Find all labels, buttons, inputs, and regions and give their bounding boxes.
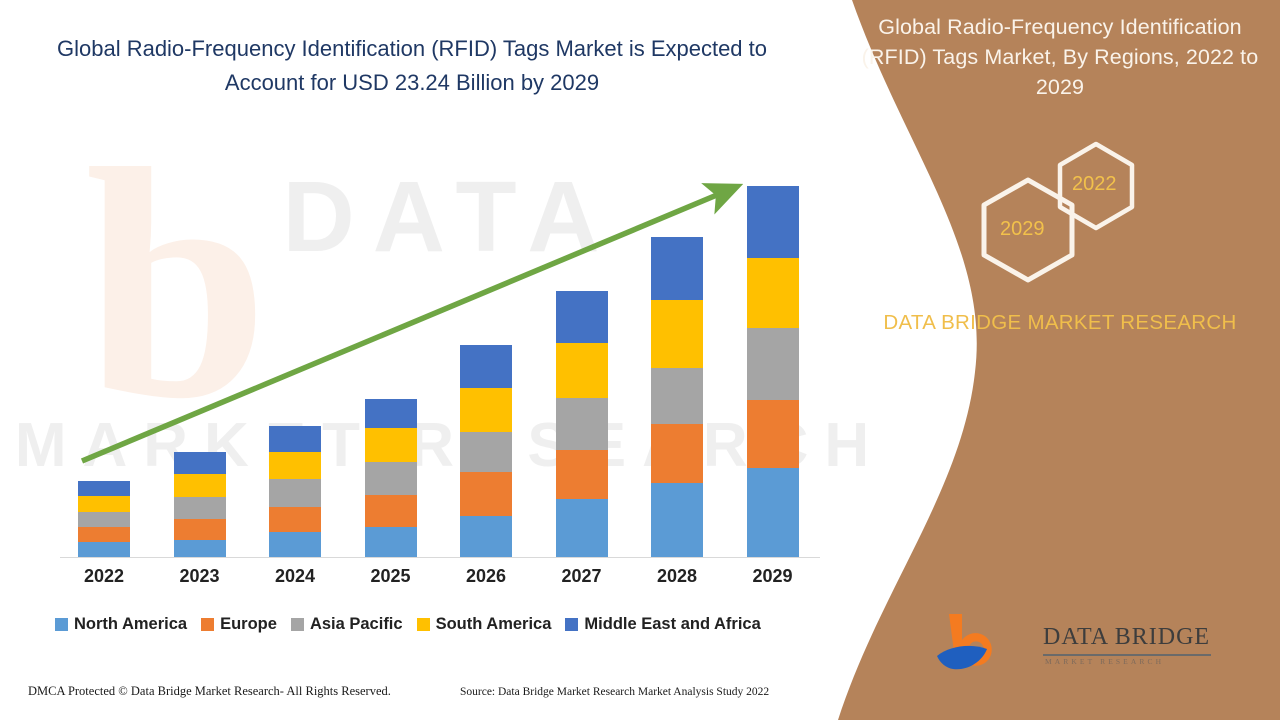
chart-title: Global Radio-Frequency Identification (R…	[52, 32, 772, 100]
logo-subtitle: MARKET RESEARCH	[1045, 657, 1164, 666]
bar-segment	[365, 399, 417, 428]
bar-segment	[174, 474, 226, 497]
bar-2027	[556, 291, 608, 557]
x-axis-label-2029: 2029	[723, 566, 823, 587]
bar-segment	[747, 328, 799, 400]
bar-2025	[365, 399, 417, 557]
bar-segment	[651, 300, 703, 368]
bar-segment	[174, 519, 226, 540]
bar-segment	[556, 291, 608, 343]
bar-segment	[78, 512, 130, 527]
bar-segment	[78, 496, 130, 512]
legend-item[interactable]: Europe	[201, 615, 277, 634]
bar-segment	[460, 432, 512, 472]
infographic-root: b DATA MARKET RESEARCH Global Radio-Freq…	[0, 0, 1280, 720]
bar-segment	[556, 398, 608, 450]
bar-segment	[269, 507, 321, 532]
company-logo: DATA BRIDGE MARKET RESEARCH	[935, 612, 1265, 682]
x-axis-label-2026: 2026	[436, 566, 536, 587]
bar-segment	[556, 450, 608, 499]
bar-2024	[269, 426, 321, 557]
hexagon-2029-label: 2029	[1000, 218, 1045, 241]
bar-segment	[78, 527, 130, 542]
bar-segment	[174, 540, 226, 557]
legend-item[interactable]: Middle East and Africa	[565, 615, 760, 634]
legend-swatch-icon	[55, 618, 68, 631]
hexagon-2022-label: 2022	[1072, 173, 1117, 196]
bar-segment	[747, 400, 799, 468]
chart-legend: North AmericaEuropeAsia PacificSouth Ame…	[55, 615, 761, 634]
bar-segment	[460, 516, 512, 557]
bar-segment	[78, 542, 130, 557]
bar-segment	[269, 452, 321, 479]
legend-swatch-icon	[291, 618, 304, 631]
bar-segment	[747, 258, 799, 328]
bar-segment	[78, 481, 130, 496]
x-axis-labels: 20222023202420252026202720282029	[0, 566, 860, 596]
logo-wordmark: DATA BRIDGE	[1043, 624, 1210, 651]
x-axis-label-2027: 2027	[532, 566, 632, 587]
legend-label: Asia Pacific	[310, 615, 403, 634]
x-axis-label-2023: 2023	[150, 566, 250, 587]
bar-segment	[747, 468, 799, 557]
logo-divider	[1043, 654, 1211, 656]
bar-segment	[460, 388, 512, 432]
bar-2028	[651, 237, 703, 557]
legend-item[interactable]: Asia Pacific	[291, 615, 403, 634]
legend-label: Middle East and Africa	[584, 615, 760, 634]
legend-swatch-icon	[417, 618, 430, 631]
bar-segment	[651, 368, 703, 424]
bar-2022	[78, 481, 130, 557]
bar-segment	[747, 186, 799, 258]
bar-segment	[174, 452, 226, 474]
legend-label: South America	[436, 615, 552, 634]
bar-segment	[269, 532, 321, 557]
x-axis-label-2024: 2024	[245, 566, 345, 587]
x-axis-label-2022: 2022	[54, 566, 154, 587]
bar-segment	[365, 527, 417, 557]
bar-segment	[651, 237, 703, 300]
legend-label: North America	[74, 615, 187, 634]
footer-copyright: DMCA Protected © Data Bridge Market Rese…	[28, 684, 391, 699]
bar-segment	[269, 426, 321, 452]
bar-segment	[651, 483, 703, 557]
bar-segment	[651, 424, 703, 483]
logo-mark-icon	[935, 612, 1035, 674]
x-axis-label-2028: 2028	[627, 566, 727, 587]
legend-swatch-icon	[565, 618, 578, 631]
bar-segment	[556, 499, 608, 557]
legend-swatch-icon	[201, 618, 214, 631]
legend-item[interactable]: South America	[417, 615, 552, 634]
bar-segment	[365, 495, 417, 527]
bar-2026	[460, 345, 512, 557]
bar-segment	[174, 497, 226, 519]
footer-source: Source: Data Bridge Market Research Mark…	[460, 686, 769, 698]
bar-segment	[556, 343, 608, 398]
hexagon-badges: 2022 2029	[860, 140, 1260, 290]
bar-segment	[269, 479, 321, 507]
bar-segment	[460, 345, 512, 388]
bar-2023	[174, 452, 226, 557]
bar-2029	[747, 186, 799, 557]
panel-title: Global Radio-Frequency Identification (R…	[860, 12, 1260, 102]
legend-label: Europe	[220, 615, 277, 634]
legend-item[interactable]: North America	[55, 615, 187, 634]
x-axis-label-2025: 2025	[341, 566, 441, 587]
bar-segment	[365, 462, 417, 495]
panel-content: Global Radio-Frequency Identification (R…	[860, 0, 1280, 720]
brand-name: DATA BRIDGE MARKET RESEARCH	[860, 308, 1260, 338]
bar-segment	[365, 428, 417, 462]
bar-segment	[460, 472, 512, 516]
